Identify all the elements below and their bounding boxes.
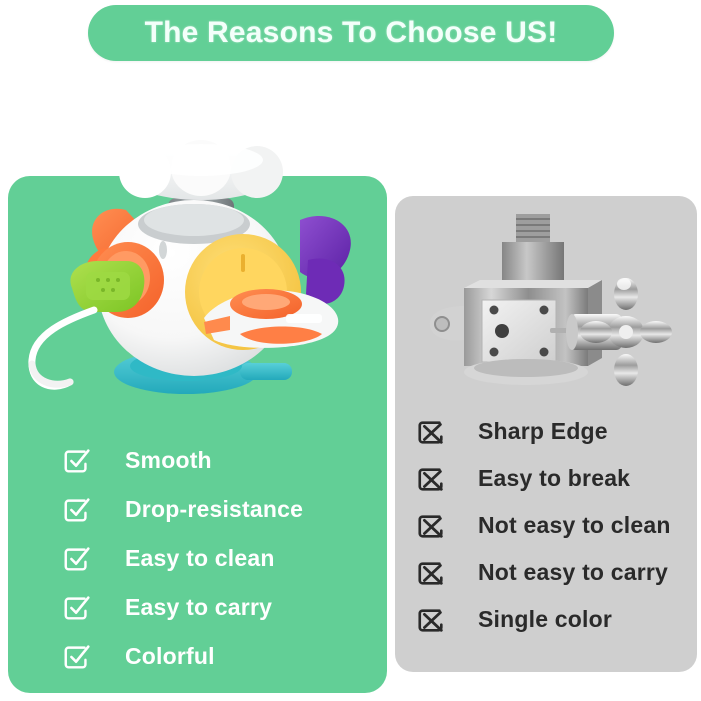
list-item: Single color (416, 596, 671, 643)
baby-sensory-toy-image (8, 120, 388, 410)
faucet-base-flange (464, 359, 588, 385)
check-box-icon (62, 593, 92, 623)
list-item-label: Colorful (125, 643, 215, 670)
list-item-label: Not easy to clean (478, 512, 671, 539)
list-item: Colorful (62, 632, 303, 681)
list-item: Smooth (62, 436, 303, 485)
cross-box-icon (416, 605, 446, 635)
list-item-label: Drop-resistance (125, 496, 303, 523)
check-box-icon (62, 495, 92, 525)
list-item: Drop-resistance (62, 485, 303, 534)
check-box-icon (62, 642, 92, 672)
page-title: The Reasons To Choose US! (145, 16, 558, 50)
list-item: Not easy to clean (416, 502, 671, 549)
check-box-icon (62, 446, 92, 476)
cross-box-icon (416, 464, 446, 494)
bad-feature-list: Sharp Edge Easy to break Not easy to cle… (416, 408, 671, 643)
toy-white-cap (119, 140, 283, 200)
toy-purple-fins (300, 216, 351, 304)
list-item: Easy to break (416, 455, 671, 502)
list-item-label: Easy to carry (125, 594, 272, 621)
toy-green-key (70, 261, 144, 312)
list-item: Easy to carry (62, 583, 303, 632)
list-item-label: Single color (478, 606, 612, 633)
header-banner: The Reasons To Choose US! (88, 5, 614, 61)
faucet-threaded-inlet (516, 214, 550, 244)
list-item-label: Sharp Edge (478, 418, 608, 445)
list-item: Sharp Edge (416, 408, 671, 455)
comparison-infographic: The Reasons To Choose US! (0, 0, 701, 701)
cross-box-icon (416, 511, 446, 541)
cross-box-icon (416, 417, 446, 447)
faucet-mounting-ear (430, 306, 464, 340)
list-item: Not easy to carry (416, 549, 671, 596)
toy-cord-loop (32, 310, 94, 386)
faucet-neck (502, 242, 564, 286)
check-box-icon (62, 544, 92, 574)
list-item-label: Easy to break (478, 465, 630, 492)
list-item-label: Not easy to carry (478, 559, 668, 586)
list-item: Easy to clean (62, 534, 303, 583)
good-feature-list: Smooth Drop-resistance Easy to clean Eas… (62, 436, 303, 681)
cross-box-icon (416, 558, 446, 588)
list-item-label: Easy to clean (125, 545, 275, 572)
list-item-label: Smooth (125, 447, 212, 474)
metal-faucet-image (420, 210, 680, 400)
